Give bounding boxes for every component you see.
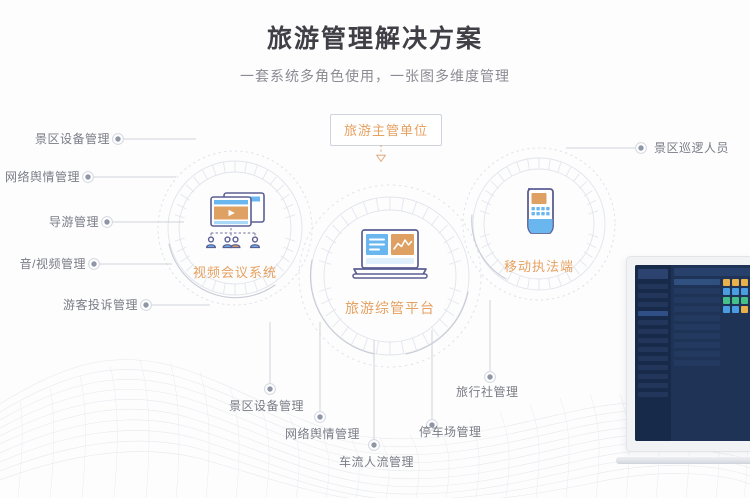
dashboard-sidebar (635, 265, 671, 441)
dashboard-grid-icon (723, 297, 730, 304)
node-label-tourism-platform: 旅游综管平台 (310, 298, 470, 318)
dashboard-menu-item (638, 293, 668, 298)
dashboard-menu-item (638, 356, 668, 361)
header: 旅游管理解决方案 一套系统多角色使用，一张图多维度管理 (0, 22, 750, 86)
dashboard-tree (674, 279, 720, 369)
dashboard-tree-row (674, 351, 720, 357)
label-left-5[interactable]: 游客投诉管理 (0, 298, 138, 312)
dashboard-tree-row (674, 315, 720, 321)
dashboard-tree-row (674, 342, 720, 348)
dashboard-grid-icon (723, 288, 730, 295)
dashboard-grid-icon (723, 279, 730, 286)
dashboard-menu-item-selected (638, 311, 668, 316)
dashboard-tree-row (674, 333, 720, 339)
dashboard-menu-item (638, 347, 668, 352)
dashboard-menu-item (638, 338, 668, 343)
label-left-1[interactable]: 景区设备管理 (0, 132, 110, 146)
dashboard-menu-item (638, 365, 668, 370)
dashboard-menu-item (638, 284, 668, 289)
label-left-2[interactable]: 网络舆情管理 (0, 170, 80, 184)
dashboard-body (674, 279, 750, 369)
dashboard-main (671, 265, 750, 441)
dashboard-preview (635, 265, 750, 441)
dashboard-toolbar (674, 268, 750, 276)
solution-diagram-canvas: 旅游管理解决方案 一套系统多角色使用，一张图多维度管理 (0, 0, 750, 498)
laptop-base (616, 457, 750, 464)
dashboard-icon-grid (723, 279, 750, 369)
node-tourism-platform[interactable]: 旅游综管平台 (310, 228, 470, 318)
page-subtitle: 一套系统多角色使用，一张图多维度管理 (0, 66, 750, 86)
node-label-video-conference: 视频会议系统 (155, 262, 315, 281)
dashboard-tree-row (674, 306, 720, 312)
video-conference-icon (198, 188, 272, 250)
laptop-screen (626, 256, 750, 452)
dashboard-grid-icon (732, 288, 739, 295)
dashboard-tree-row (674, 288, 720, 294)
dashboard-grid-icon (741, 288, 748, 295)
page-title: 旅游管理解决方案 (0, 22, 750, 56)
label-bottom-4[interactable]: 停车场管理 (419, 425, 482, 439)
dashboard-grid-icon (732, 306, 739, 313)
laptop-mockup (626, 256, 750, 464)
dashboard-grid-icon (723, 306, 730, 313)
label-bottom-1[interactable]: 景区设备管理 (229, 399, 304, 413)
dashboard-menu-item (638, 392, 668, 397)
dashboard-tree-row (674, 360, 720, 366)
chevron-down-dotted-icon (374, 145, 388, 163)
dashboard-grid-icon (741, 279, 748, 286)
dashboard-tree-row (674, 297, 720, 303)
laptop-dashboard-icon (349, 228, 431, 286)
dashboard-grid-icon (741, 306, 748, 313)
label-left-3[interactable]: 导游管理 (0, 215, 99, 229)
dashboard-menu-item (638, 383, 668, 388)
dashboard-tree-row (674, 279, 720, 285)
dashboard-menu-item (638, 374, 668, 379)
node-label-mobile-enforcement: 移动执法端 (459, 256, 619, 275)
authority-badge[interactable]: 旅游主管单位 (330, 114, 442, 146)
node-mobile-enforcement[interactable]: 移动执法端 (459, 186, 619, 275)
dashboard-tree-row (674, 324, 720, 330)
dashboard-grid-icon (732, 297, 739, 304)
dashboard-menu-item (638, 320, 668, 325)
label-bottom-2[interactable]: 网络舆情管理 (285, 427, 360, 441)
dashboard-brand (638, 269, 668, 279)
node-video-conference[interactable]: 视频会议系统 (155, 188, 315, 281)
dashboard-menu-item (638, 329, 668, 334)
label-bottom-3[interactable]: 车流人流管理 (339, 455, 414, 469)
label-left-4[interactable]: 音/视频管理 (0, 257, 86, 271)
dashboard-menu-item (638, 302, 668, 307)
label-right-1[interactable]: 景区巡逻人员 (654, 141, 729, 155)
label-bottom-5[interactable]: 旅行社管理 (456, 385, 519, 399)
dashboard-grid-icon (732, 279, 739, 286)
mobile-device-icon (515, 186, 563, 244)
dashboard-grid-icon (741, 297, 748, 304)
